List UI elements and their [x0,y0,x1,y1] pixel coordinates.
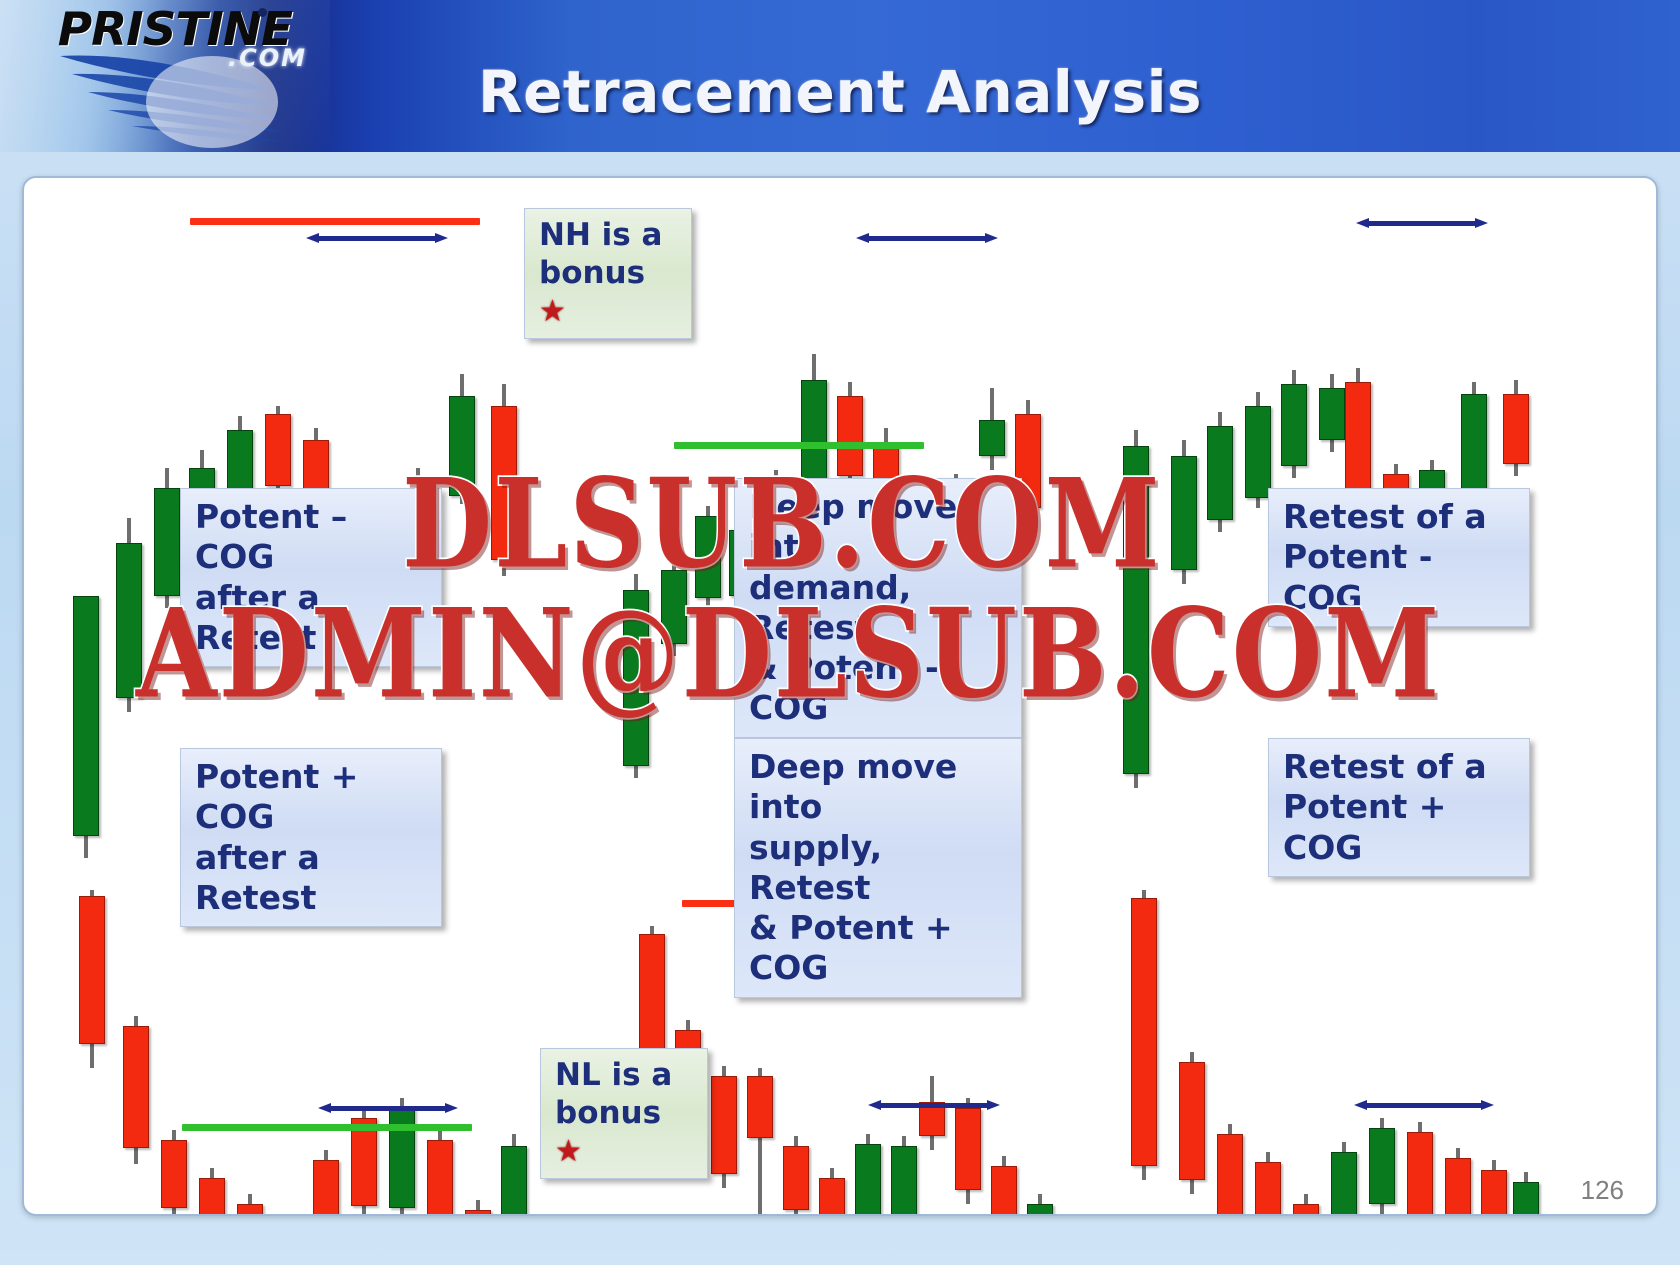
arrow-shaft [316,236,438,241]
candle-body [465,1210,491,1216]
candlestick-bottom-left-11 [501,1134,527,1216]
candle-body [623,590,649,766]
candlestick-top-right-10 [1503,380,1529,476]
candle-body [955,1108,981,1190]
candle-body [313,1160,339,1216]
candlestick-top-center-10 [979,388,1005,470]
candlestick-bottom-right-5 [1331,1142,1357,1216]
candle-body [1217,1134,1243,1216]
candlestick-top-right-0 [1123,430,1149,788]
candlestick-bottom-right-2 [1217,1124,1243,1216]
candle-body [1281,384,1307,466]
candle-body [1407,1132,1433,1216]
candlestick-bottom-center-10 [991,1156,1017,1216]
candlestick-bottom-left-1 [123,1016,149,1164]
candlestick-top-right-1 [1171,440,1197,584]
candle-body [1481,1170,1507,1216]
candle-body [1171,456,1197,570]
callout-retest-potent-plus: Retest of a Potent + COG [1268,738,1530,877]
candlestick-bottom-left-3 [199,1168,225,1216]
candlestick-top-left-1 [116,518,142,712]
candle-body [1179,1062,1205,1180]
support-line-bottom-left [182,1124,472,1131]
star-icon: ★ [555,1134,582,1171]
candlestick-top-center-0 [623,574,649,778]
candlestick-top-center-2 [695,506,721,610]
candle-body [449,396,475,496]
candlestick-bottom-left-2 [161,1130,187,1216]
candle-body [501,1146,527,1216]
candle-body [1207,426,1233,520]
candlestick-top-left-5 [265,406,291,496]
candle-body [351,1118,377,1206]
candlestick-top-left-2 [154,468,180,608]
candle-body [783,1146,809,1210]
arrow-head-right-icon [987,1100,1000,1110]
callout-potent-plus-cog: Potent + COG after a Retest [180,748,442,927]
candlestick-top-right-4 [1281,370,1307,478]
candlestick-bottom-center-5 [819,1168,845,1216]
callout-nh-bonus: NH is a bonus ★ [524,208,692,339]
candlestick-top-right-2 [1207,412,1233,532]
candle-body [1245,406,1271,498]
candlestick-bottom-right-10 [1513,1172,1539,1216]
candle-body [711,1076,737,1174]
callout-deep-move-supply: Deep move into supply, Retest & Potent +… [734,738,1022,998]
candle-body [1131,898,1157,1166]
candlestick-bottom-left-6 [313,1150,339,1216]
candle-body [154,488,180,596]
candlestick-bottom-right-9 [1481,1160,1507,1216]
candlestick-bottom-left-0 [79,890,105,1068]
candlestick-top-left-10 [449,374,475,504]
candlestick-bottom-center-7 [891,1136,917,1216]
candle-body [1331,1152,1357,1216]
candle-body [73,596,99,836]
candle-body [819,1178,845,1216]
candlestick-bottom-left-8 [389,1098,415,1216]
candlestick-bottom-left-10 [465,1200,491,1216]
candlestick-top-right-5 [1319,374,1345,452]
arrow-head-right-icon [445,1103,458,1113]
slide: PRISTINE .COM Retracement Analysis [0,0,1680,1265]
arrow-head-right-icon [985,233,998,243]
chart-panel: NH is a bonus ★ NL is a bonus ★ Potent –… [22,176,1658,1216]
candle-body [1445,1158,1471,1216]
candlestick-bottom-left-4 [237,1194,263,1216]
candlestick-bottom-right-1 [1179,1052,1205,1194]
candle-body [891,1146,917,1216]
candlestick-top-left-0 [73,596,99,858]
candle-body [695,516,721,598]
retracement-arrow-bottom-right [1354,1100,1494,1109]
arrow-shaft [1366,221,1478,226]
arrow-shaft [1364,1103,1484,1108]
candlestick-bottom-center-11 [1027,1194,1053,1216]
retracement-arrow-top-right [1356,218,1488,227]
candle-body [116,543,142,698]
candle-body [1123,446,1149,774]
candle-body [1503,394,1529,464]
candle-body [491,406,517,560]
candle-body [79,896,105,1044]
candle-body [1319,388,1345,440]
arrow-head-right-icon [1481,1100,1494,1110]
candle-body [855,1144,881,1216]
page-title: Retracement Analysis [0,58,1680,126]
candle-body [199,1178,225,1216]
candle-body [123,1026,149,1148]
arrow-shaft [328,1106,448,1111]
candlestick-bottom-center-3 [747,1068,773,1214]
callout-nh-bonus-text: NH is a bonus [539,217,662,291]
candle-body [979,420,1005,456]
candle-body [237,1204,263,1216]
logo-dot [258,8,267,17]
retracement-arrow-top-center [856,233,998,242]
arrow-head-right-icon [1475,218,1488,228]
callout-potent-minus-cog: Potent – COG after a Retest [180,488,442,667]
candle-body [991,1166,1017,1216]
candle-body [639,934,665,1066]
callout-nl-bonus: NL is a bonus ★ [540,1048,708,1179]
retracement-arrow-top-left [306,233,448,242]
retracement-arrow-bottom-left [318,1103,458,1112]
candlestick-bottom-right-6 [1369,1118,1395,1216]
candle-body [161,1140,187,1208]
candlestick-bottom-right-3 [1255,1152,1281,1216]
candlestick-bottom-right-7 [1407,1122,1433,1216]
arrow-head-right-icon [435,233,448,243]
candlestick-bottom-center-2 [711,1066,737,1188]
candlestick-bottom-right-0 [1131,890,1157,1180]
candle-body [389,1108,415,1208]
arrow-shaft [866,236,988,241]
candlestick-bottom-center-9 [955,1098,981,1204]
candle-body [747,1076,773,1138]
callout-nl-bonus-text: NL is a bonus [555,1057,672,1131]
callout-retest-potent-minus: Retest of a Potent - COG [1268,488,1530,627]
candlestick-top-center-1 [661,558,687,656]
page-number: 126 [1581,1175,1624,1206]
candle-body [1513,1182,1539,1216]
callout-deep-move-demand: Deep move into demand, Retest & Potent -… [734,478,1022,738]
retracement-arrow-bottom-center [868,1100,1000,1109]
candlestick-bottom-right-8 [1445,1148,1471,1216]
candle-body [1293,1204,1319,1216]
candle-body [427,1140,453,1216]
candlestick-bottom-center-8 [919,1076,945,1150]
candle-body [1027,1204,1053,1216]
candle-body [1345,382,1371,500]
candle-body [1255,1162,1281,1216]
candle-body [661,570,687,644]
candlestick-bottom-left-7 [351,1106,377,1216]
candlestick-bottom-right-4 [1293,1194,1319,1216]
arrow-shaft [878,1103,990,1108]
candlestick-bottom-center-6 [855,1134,881,1216]
candle-body [265,414,291,486]
candlestick-top-center-6 [837,382,863,488]
resistance-line-top-left [190,218,480,225]
star-icon: ★ [539,294,566,331]
support-line-top-center [674,442,924,449]
candle-body [837,396,863,476]
candle-body [1461,394,1487,496]
candlestick-top-left-11 [491,384,517,576]
candlestick-bottom-left-9 [427,1128,453,1216]
candle-body [1369,1128,1395,1204]
candlestick-bottom-center-4 [783,1136,809,1216]
